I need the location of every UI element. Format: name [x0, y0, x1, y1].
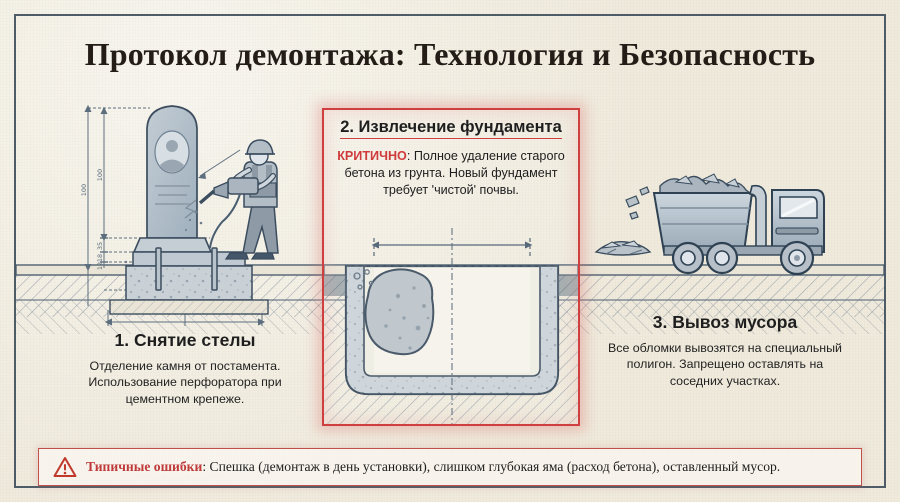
hard-hat	[247, 140, 273, 154]
critical-label: КРИТИЧНО	[337, 149, 407, 163]
page-title: Протокол демонтажа: Технология и Безопас…	[0, 36, 900, 73]
step-right-heading: 3. Вывоз мусора	[600, 312, 850, 333]
step-left-heading: 1. Снятие стелы	[60, 330, 310, 351]
svg-text:35: 35	[96, 242, 104, 250]
step-right: 3. Вывоз мусора Все обломки вывозятся на…	[600, 312, 850, 389]
svg-text:100: 100	[80, 184, 88, 196]
warning-triangle-icon	[53, 456, 77, 478]
plinth	[134, 238, 211, 252]
dump-bed	[654, 193, 752, 252]
svg-text:18: 18	[96, 254, 104, 262]
rubble-pile	[596, 241, 650, 255]
warning-body: : Спешка (демонтаж в день установки), сл…	[202, 459, 780, 474]
step-left: 1. Снятие стелы Отделение камня от поста…	[60, 330, 310, 407]
dump-truck-illustration	[596, 174, 824, 274]
step-right-body: Все обломки вывозятся на специальный пол…	[600, 340, 850, 389]
warning-lead: Типичные ошибки	[86, 459, 202, 474]
step-center-heading: 2. Извлечение фундамента	[322, 118, 580, 137]
svg-text:100: 100	[96, 169, 104, 181]
infographic-page: 100 100 35 18 12	[0, 0, 900, 502]
step-center-heading-text: 2. Извлечение фундамента	[340, 118, 562, 139]
step-left-body: Отделение камня от постамента. Использов…	[60, 358, 310, 407]
dimension-labels-left: 100 100 35 18 12	[80, 169, 104, 270]
falling-debris	[626, 187, 649, 219]
concrete-foundation	[126, 266, 252, 300]
warning-bar: Типичные ошибки: Спешка (демонтаж в день…	[38, 448, 862, 486]
svg-text:12: 12	[96, 262, 104, 270]
warning-text: Типичные ошибки: Спешка (демонтаж в день…	[86, 459, 780, 475]
step-center-body: КРИТИЧНО: Полное удаление старого бетона…	[326, 148, 576, 199]
